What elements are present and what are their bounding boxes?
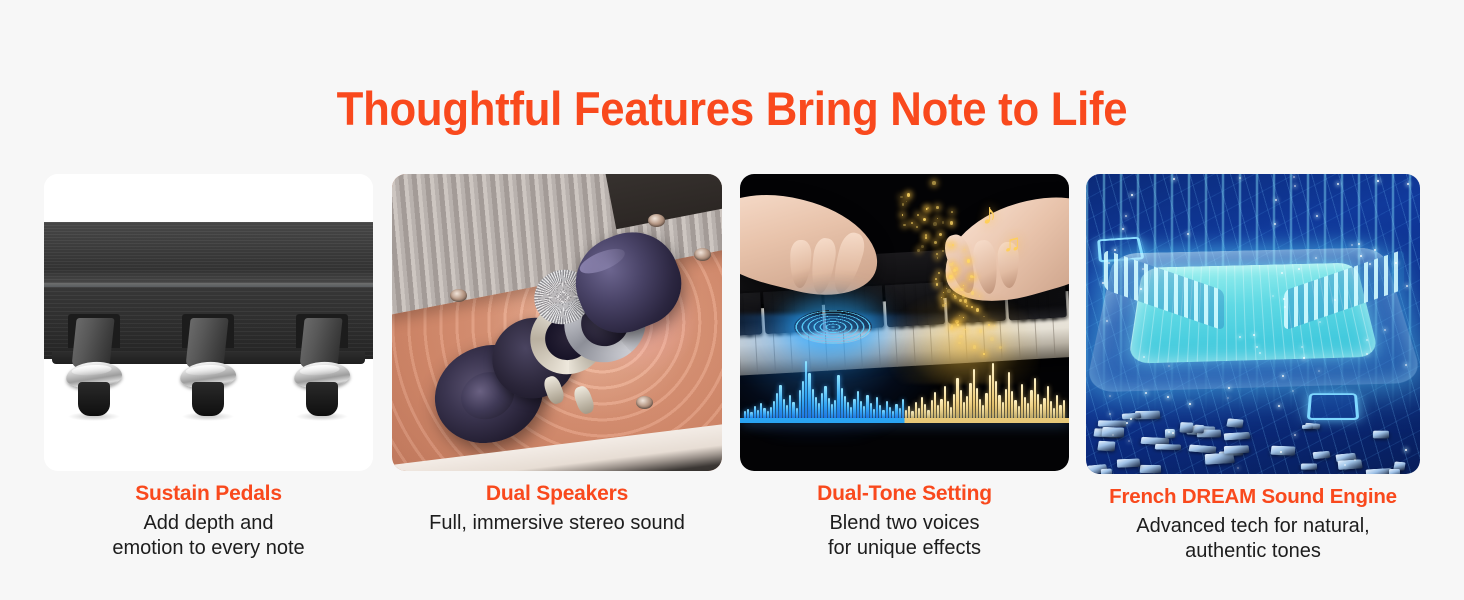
sparkle-particle xyxy=(1189,403,1191,405)
sustain-pedals-caption: Sustain Pedals Add depth and emotion to … xyxy=(44,471,373,561)
equalizer-bar xyxy=(944,386,946,419)
equalizer-bar xyxy=(824,386,826,419)
board-component xyxy=(1155,444,1181,450)
equalizer-bar xyxy=(1059,405,1061,419)
sparkle-particle xyxy=(906,201,908,203)
sparkle-particle xyxy=(941,297,942,298)
equalizer-bar xyxy=(783,399,785,419)
feature-description-line-1: Blend two voices xyxy=(829,512,979,534)
equalizer-bar xyxy=(808,373,810,419)
equalizer-bar xyxy=(879,405,881,419)
sparkle-particle xyxy=(950,221,954,225)
equalizer-bar xyxy=(1050,401,1052,419)
board-component xyxy=(1101,427,1124,438)
sparkle-particle xyxy=(907,193,910,196)
equalizer-bar xyxy=(776,393,778,419)
sparkle-particle xyxy=(949,275,953,279)
feature-card-french-dream-sound-engine[interactable]: French DREAM Sound Engine Advanced tech … xyxy=(1086,174,1420,564)
sparkle-particle xyxy=(1126,422,1128,424)
sparkle-particle xyxy=(1280,451,1282,453)
sparkle-particle xyxy=(1405,364,1407,366)
music-note-icon: ♪ xyxy=(982,200,997,230)
equalizer-bar xyxy=(860,401,862,419)
equalizer-bar xyxy=(812,389,814,419)
sparkle-particle xyxy=(964,299,967,302)
sparkle-particle xyxy=(937,218,938,219)
sparkle-particle xyxy=(1108,262,1110,264)
equalizer-bar xyxy=(792,402,794,419)
equalizer-bar xyxy=(931,400,933,419)
dual-tone-image: ♪ ♫ xyxy=(740,174,1069,471)
equalizer-bar xyxy=(799,390,801,419)
equalizer-bar xyxy=(979,399,981,419)
equalizer-bar xyxy=(857,391,859,419)
equalizer-bar xyxy=(934,392,936,419)
sparkle-particle xyxy=(933,222,937,226)
feature-card-dual-speakers[interactable]: Dual Speakers Full, immersive stereo sou… xyxy=(392,174,722,536)
feature-card-dual-tone-setting[interactable]: ♪ ♫ Dual-Tone Setting Blend two voices f… xyxy=(740,174,1069,561)
dream-sound-engine-image xyxy=(1086,174,1420,474)
equalizer-bar xyxy=(870,403,872,419)
sparkle-particle xyxy=(1354,459,1356,461)
sparkle-particle xyxy=(1316,215,1318,217)
sparkle-particle xyxy=(936,206,939,209)
sparkle-particle xyxy=(900,196,903,199)
board-component xyxy=(1165,429,1176,438)
speaker-scene xyxy=(392,174,722,471)
sparkle-particle xyxy=(1284,306,1286,308)
equalizer-bar xyxy=(844,396,846,419)
sparkle-particle xyxy=(923,218,927,222)
sparkle-particle xyxy=(934,241,937,244)
sparkle-particle xyxy=(1227,397,1229,399)
sparkle-particle xyxy=(953,269,956,272)
feature-description-line-2: authentic tones xyxy=(1185,540,1321,562)
equalizer-bar xyxy=(998,395,1000,419)
feature-description-line-1: Advanced tech for natural, xyxy=(1136,515,1369,537)
equalizer-bar xyxy=(876,397,878,419)
equalizer-bar xyxy=(915,402,917,419)
dual-tone-caption: Dual-Tone Setting Blend two voices for u… xyxy=(740,471,1069,561)
board-component xyxy=(1098,441,1116,452)
board-component xyxy=(1224,431,1251,440)
sparkle-particle xyxy=(1294,434,1296,436)
pedal-arm-icon xyxy=(299,318,342,368)
board-component xyxy=(1301,425,1312,429)
equalizer-bar xyxy=(989,375,991,419)
equalizer-bar xyxy=(1014,400,1016,419)
sparkle-particle xyxy=(1334,299,1336,301)
equalizer-bar xyxy=(789,395,791,419)
sparkle-particle xyxy=(932,181,936,185)
blue-ripple-icon xyxy=(794,310,872,344)
equalizer-bar xyxy=(966,396,968,419)
equalizer-bar xyxy=(1005,389,1007,419)
sparkle-particle xyxy=(1272,295,1274,297)
sparkle-particle xyxy=(1366,353,1368,355)
sparkle-particle xyxy=(1369,263,1371,265)
equalizer-bar xyxy=(818,403,820,419)
sparkle-particle xyxy=(1406,285,1408,287)
feature-title: Sustain Pedals xyxy=(44,481,373,507)
pedal-stem-icon xyxy=(306,382,338,416)
pedal-stem-icon xyxy=(192,382,224,416)
sparkle-particle xyxy=(903,224,905,226)
sparkle-particle xyxy=(951,325,954,328)
equalizer-bar xyxy=(985,393,987,419)
equalizer-bar xyxy=(786,405,788,419)
board-component xyxy=(1205,452,1235,464)
equalizer-bar xyxy=(779,385,781,419)
sparkle-particle xyxy=(1281,272,1283,274)
dual-tone-scene: ♪ ♫ xyxy=(740,174,1069,471)
equalizer-bar xyxy=(1030,390,1032,419)
screw-icon xyxy=(694,248,711,261)
audio-equalizer xyxy=(740,341,1069,419)
equalizer-bar xyxy=(1037,394,1039,419)
sparkle-particle xyxy=(1143,356,1145,358)
equalizer-bar xyxy=(947,401,949,419)
sparkle-particle xyxy=(1237,467,1239,469)
equalizer-bar xyxy=(995,381,997,419)
sparkle-particle xyxy=(951,248,952,249)
sparkle-particle xyxy=(902,214,904,216)
music-note-icon: ♫ xyxy=(1003,232,1021,256)
equalizer-bar xyxy=(773,401,775,419)
equalizer-bar xyxy=(992,363,994,419)
equalizer-bar xyxy=(760,403,762,419)
board-socket-icon xyxy=(1307,393,1360,420)
piano-beam xyxy=(44,222,373,286)
equalizer-bar xyxy=(937,405,939,419)
sparkle-particle xyxy=(1131,194,1133,196)
pedal-scene xyxy=(44,174,373,471)
dual-speakers-image xyxy=(392,174,722,471)
board-component xyxy=(1270,446,1294,456)
sparkle-particle xyxy=(917,214,919,216)
equalizer-bar xyxy=(1002,402,1004,419)
feature-description-line-2: for unique effects xyxy=(828,537,981,559)
sparkle-particle xyxy=(1351,244,1353,246)
equalizer-bar xyxy=(902,399,904,419)
equalizer-bar xyxy=(895,404,897,419)
sparkle-particle xyxy=(1358,243,1360,245)
sparkle-particle xyxy=(902,203,905,206)
board-component xyxy=(1140,465,1162,474)
sparkle-particle xyxy=(951,211,953,213)
equalizer-bar xyxy=(837,375,839,419)
equalizer-bar xyxy=(1040,404,1042,419)
feature-description: Blend two voices for unique effects xyxy=(740,511,1069,561)
sparkle-particle xyxy=(955,273,957,275)
feature-description-line-1: Add depth and xyxy=(143,512,273,534)
sparkle-particle xyxy=(1298,268,1300,270)
equalizer-bar xyxy=(956,378,958,419)
equalizer-bar xyxy=(1043,398,1045,419)
equalizer-bar xyxy=(831,404,833,419)
feature-title: Dual-Tone Setting xyxy=(740,481,1069,507)
sparkle-particle xyxy=(957,324,958,325)
sparkle-particle xyxy=(925,234,927,236)
equalizer-bar xyxy=(1027,403,1029,419)
board-component xyxy=(1301,464,1317,470)
equalizer-bar xyxy=(828,398,830,419)
feature-description-line-2: emotion to every note xyxy=(112,537,304,559)
equalizer-bar xyxy=(815,397,817,419)
sparkle-particle xyxy=(988,324,990,326)
sparkle-particle xyxy=(947,289,951,293)
board-component xyxy=(1116,459,1140,468)
board-component xyxy=(1389,469,1400,474)
equalizer-bar xyxy=(973,369,975,419)
dual-speakers-caption: Dual Speakers Full, immersive stereo sou… xyxy=(392,471,722,536)
sparkle-particle xyxy=(1407,183,1409,185)
sparkle-particle xyxy=(925,237,926,238)
feature-description: Advanced tech for natural, authentic ton… xyxy=(1086,514,1420,564)
sparkle-particle xyxy=(959,315,960,316)
board-component xyxy=(1179,422,1193,433)
equalizer-baseline xyxy=(740,418,1069,423)
feature-title: Dual Speakers xyxy=(392,481,722,507)
equalizer-bar xyxy=(963,402,965,419)
equalizer-bar xyxy=(976,388,978,419)
equalizer-bar xyxy=(1056,395,1058,419)
sparkle-particle xyxy=(942,221,944,223)
feature-highlights-page: Thoughtful Features Bring Note to Life xyxy=(0,0,1464,600)
sparkle-particle xyxy=(916,226,919,229)
sparkle-particle xyxy=(954,296,957,299)
sparkle-particle xyxy=(1125,215,1127,217)
sparkle-particle xyxy=(976,308,979,311)
sparkle-particle xyxy=(971,306,973,308)
sparkle-particle xyxy=(1228,387,1230,389)
equalizer-bar xyxy=(1008,372,1010,419)
sparkle-particle xyxy=(943,298,944,299)
equalizer-bar xyxy=(1024,397,1026,419)
sparkle-particle xyxy=(921,245,924,248)
equalizer-bar xyxy=(886,401,888,419)
equalizer-bar xyxy=(805,361,807,419)
feature-card-sustain-pedals[interactable]: Sustain Pedals Add depth and emotion to … xyxy=(44,174,373,561)
equalizer-bar xyxy=(940,399,942,419)
sparkle-particle xyxy=(1168,431,1170,433)
pedal-arm-icon xyxy=(71,318,114,368)
equalizer-bar xyxy=(969,383,971,419)
sparkle-particle xyxy=(1283,298,1285,300)
board-component xyxy=(1226,418,1243,428)
sustain-pedals-image xyxy=(44,174,373,471)
equalizer-bar xyxy=(847,402,849,419)
sparkle-particle xyxy=(959,299,962,302)
sparkle-particle xyxy=(955,288,958,291)
equalizer-bar xyxy=(1047,386,1049,419)
sparkle-particle xyxy=(935,278,937,280)
equalizer-bar xyxy=(982,405,984,419)
feature-description: Full, immersive stereo sound xyxy=(392,511,722,536)
equalizer-bar xyxy=(841,388,843,419)
feature-description: Add depth and emotion to every note xyxy=(44,511,373,561)
equalizer-bar xyxy=(960,390,962,419)
page-title: Thoughtful Features Bring Note to Life xyxy=(51,80,1413,138)
equalizer-bar xyxy=(802,381,804,419)
equalizer-bar xyxy=(953,394,955,419)
board-component xyxy=(1338,459,1363,470)
sparkle-particle xyxy=(945,303,946,304)
equalizer-bar xyxy=(921,397,923,419)
sparkle-particle xyxy=(911,222,913,224)
speaker-driver-exploded xyxy=(426,226,692,456)
equalizer-bar xyxy=(866,395,868,419)
sparkle-particle xyxy=(1187,233,1189,235)
feature-card-grid: Sustain Pedals Add depth and emotion to … xyxy=(44,174,1420,570)
sparkle-particle xyxy=(1106,320,1108,322)
sparkle-particle xyxy=(983,316,984,317)
sparkle-particle xyxy=(1293,176,1295,178)
board-component xyxy=(1194,425,1205,434)
feature-title: French DREAM Sound Engine xyxy=(1086,484,1420,510)
board-component xyxy=(1224,445,1249,453)
equalizer-bar xyxy=(1063,400,1065,419)
speaker-clip-icon xyxy=(572,384,597,416)
pedal-shadow xyxy=(296,412,348,421)
board-component xyxy=(1101,469,1112,474)
sparkle-particle xyxy=(1172,432,1174,434)
sparkle-particle xyxy=(942,304,944,306)
pedal-arm-icon xyxy=(185,318,228,368)
sparkle-particle xyxy=(1142,268,1144,270)
equalizer-bar xyxy=(821,393,823,419)
dream-sound-engine-caption: French DREAM Sound Engine Advanced tech … xyxy=(1086,474,1420,564)
pedal-shadow xyxy=(182,412,234,421)
equalizer-bar xyxy=(853,399,855,419)
sparkle-particle xyxy=(927,207,929,209)
board-component xyxy=(1373,431,1389,439)
equalizer-bar xyxy=(924,404,926,419)
equalizer-bar xyxy=(1011,391,1013,419)
circuit-board-scene xyxy=(1086,174,1420,474)
equalizer-bar xyxy=(1021,384,1023,419)
sparkle-particle xyxy=(1303,357,1305,359)
sparkle-particle xyxy=(1109,395,1111,397)
equalizer-bar xyxy=(834,400,836,419)
pedal-shadow xyxy=(68,412,120,421)
sparkle-particle xyxy=(939,233,943,237)
equalizer-bar xyxy=(1034,378,1036,419)
pedal-stem-icon xyxy=(78,382,110,416)
board-component xyxy=(1312,451,1330,459)
feature-description-line-1: Full, immersive stereo sound xyxy=(429,512,685,534)
sparkle-particle xyxy=(1360,255,1362,257)
